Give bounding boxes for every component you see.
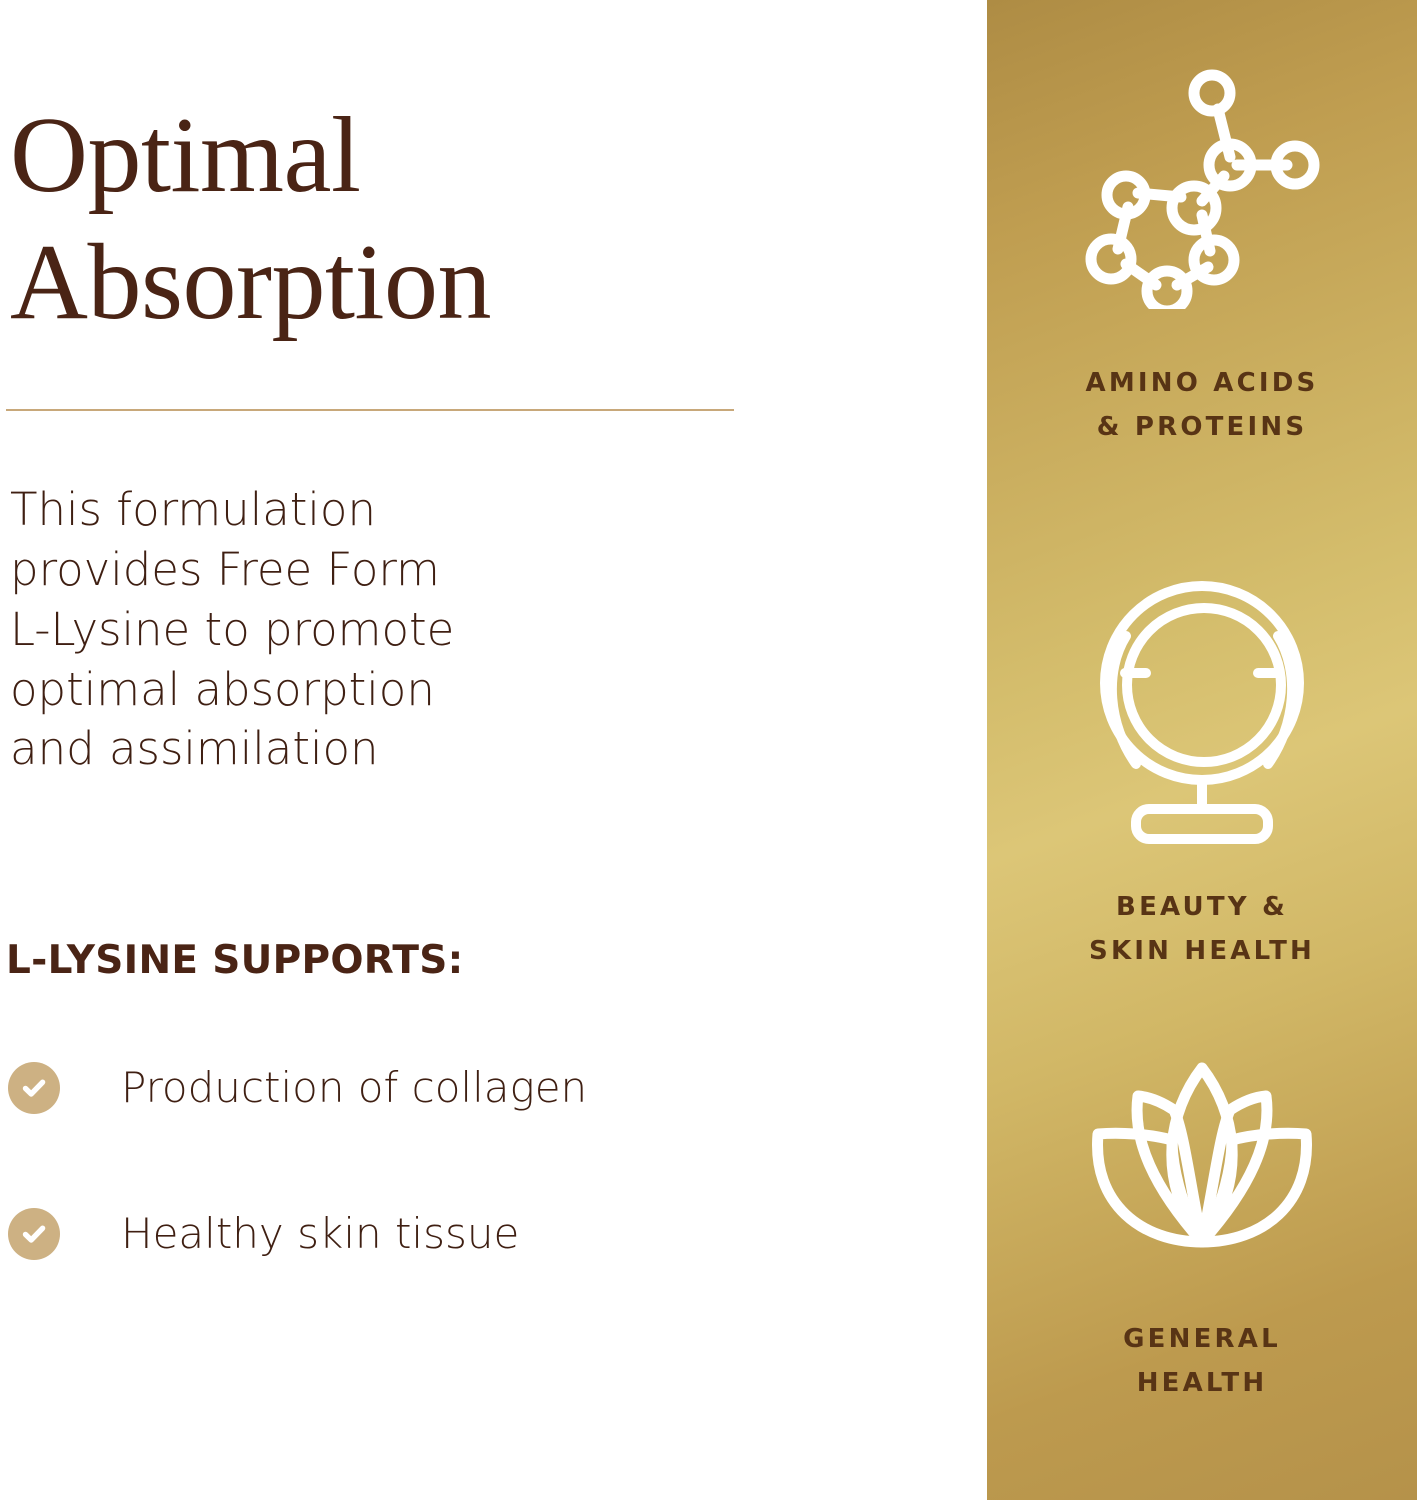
list-item: Production of collagen	[8, 1060, 888, 1116]
check-circle-icon	[8, 1208, 60, 1260]
sidebar-feature-beauty: BEAUTY & SKIN HEALTH	[987, 566, 1417, 973]
sidebar-feature-amino-acids: AMINO ACIDS & PROTEINS	[987, 60, 1417, 449]
label-line-1: BEAUTY &	[1007, 886, 1397, 930]
intro-paragraph: This formulation provides Free Form L-Ly…	[10, 480, 610, 779]
list-item: Healthy skin tissue	[8, 1206, 888, 1262]
benefits-list: Production of collagen Healthy skin tiss…	[8, 1060, 888, 1352]
check-circle-icon	[8, 1062, 60, 1114]
benefit-label: Healthy skin tissue	[121, 1213, 519, 1255]
lotus-flower-icon	[987, 1040, 1417, 1270]
page-title: Optimal Absorption	[10, 92, 830, 347]
vanity-mirror-icon	[987, 566, 1417, 856]
page-title-line-2: Absorption	[10, 219, 830, 346]
intro-line-3: L-Lysine to promote	[10, 600, 610, 660]
label-line-2: HEALTH	[1007, 1362, 1397, 1406]
sidebar-feature-label: GENERAL HEALTH	[987, 1318, 1417, 1405]
label-line-1: GENERAL	[1007, 1318, 1397, 1362]
benefit-label: Production of collagen	[121, 1067, 587, 1109]
intro-line-1: This formulation	[10, 480, 610, 540]
molecule-icon	[987, 60, 1417, 310]
label-line-2: & PROTEINS	[1007, 406, 1397, 450]
sidebar-feature-label: AMINO ACIDS & PROTEINS	[987, 362, 1417, 449]
intro-line-5: and assimilation	[10, 719, 610, 779]
label-line-1: AMINO ACIDS	[1007, 362, 1397, 406]
intro-line-2: provides Free Form	[10, 540, 610, 600]
page-title-line-1: Optimal	[10, 92, 830, 219]
supports-heading: L-LYSINE SUPPORTS:	[6, 938, 464, 983]
benefits-sidebar: AMINO ACIDS & PROTEINS	[987, 0, 1417, 1500]
label-line-2: SKIN HEALTH	[1007, 930, 1397, 974]
sidebar-feature-general-health: GENERAL HEALTH	[987, 1040, 1417, 1405]
content-panel: Optimal Absorption This formulation prov…	[0, 0, 987, 1500]
sidebar-feature-label: BEAUTY & SKIN HEALTH	[987, 886, 1417, 973]
title-divider	[6, 409, 734, 411]
intro-line-4: optimal absorption	[10, 660, 610, 720]
